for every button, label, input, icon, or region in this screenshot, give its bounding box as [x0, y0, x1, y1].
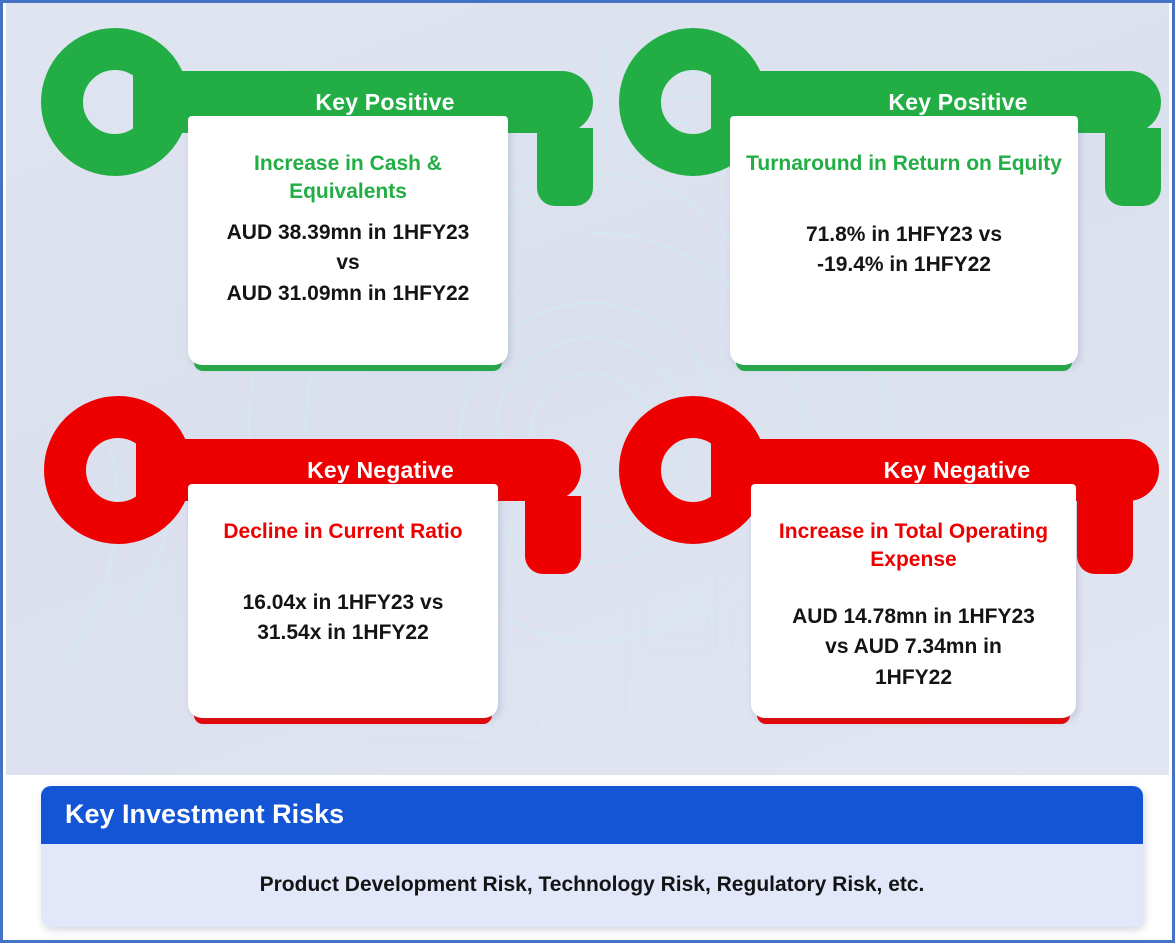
card-container[interactable]: Turnaround in Return on Equity 71.8% in … — [730, 116, 1078, 371]
key-tooth-icon — [1105, 128, 1161, 206]
card-heading: Increase in Cash & Equivalents — [202, 150, 494, 206]
card-container[interactable]: Decline in Current Ratio 16.04x in 1HFY2… — [188, 484, 498, 724]
card-surface: Increase in Total Operating Expense AUD … — [751, 484, 1076, 718]
key-card-positive-cash: Key Positive Increase in Cash & Equivale… — [41, 28, 601, 368]
card-metric-text: AUD 38.39mn in 1HFY23 vs AUD 31.09mn in … — [227, 218, 470, 309]
card-heading: Decline in Current Ratio — [223, 518, 462, 546]
card-surface: Turnaround in Return on Equity 71.8% in … — [730, 116, 1078, 365]
card-metric-text: 16.04x in 1HFY23 vs 31.54x in 1HFY22 — [243, 588, 444, 649]
key-card-positive-roe: Key Positive Turnaround in Return on Equ… — [619, 28, 1164, 368]
card-metric-text: 71.8% in 1HFY23 vs -19.4% in 1HFY22 — [806, 220, 1002, 281]
card-badge-label: Key Positive — [315, 89, 454, 116]
key-highlights-panel: B Key Positive Increase in Cash & Equiva… — [6, 3, 1169, 775]
key-tooth-icon — [1077, 496, 1133, 574]
card-heading: Increase in Total Operating Expense — [765, 518, 1062, 574]
card-metric-text: AUD 14.78mn in 1HFY23 vs AUD 7.34mn in 1… — [792, 602, 1035, 693]
card-container[interactable]: Increase in Total Operating Expense AUD … — [751, 484, 1076, 724]
card-badge-label: Key Negative — [307, 457, 454, 484]
card-heading: Turnaround in Return on Equity — [746, 150, 1062, 178]
infographic-page: B Key Positive Increase in Cash & Equiva… — [0, 0, 1175, 943]
key-card-negative-opex: Key Negative Increase in Total Operating… — [619, 396, 1164, 726]
card-badge-label: Key Negative — [884, 457, 1031, 484]
card-surface: Decline in Current Ratio 16.04x in 1HFY2… — [188, 484, 498, 718]
risks-text: Product Development Risk, Technology Ris… — [41, 844, 1143, 927]
card-badge-label: Key Positive — [888, 89, 1027, 116]
card-container[interactable]: Increase in Cash & Equivalents AUD 38.39… — [188, 116, 508, 371]
key-tooth-icon — [525, 496, 581, 574]
key-tooth-icon — [537, 128, 593, 206]
risks-title: Key Investment Risks — [41, 786, 1143, 844]
key-investment-risks-section: Key Investment Risks Product Development… — [41, 786, 1143, 927]
card-surface: Increase in Cash & Equivalents AUD 38.39… — [188, 116, 508, 365]
key-card-negative-current-ratio: Key Negative Decline in Current Ratio 16… — [44, 396, 589, 726]
